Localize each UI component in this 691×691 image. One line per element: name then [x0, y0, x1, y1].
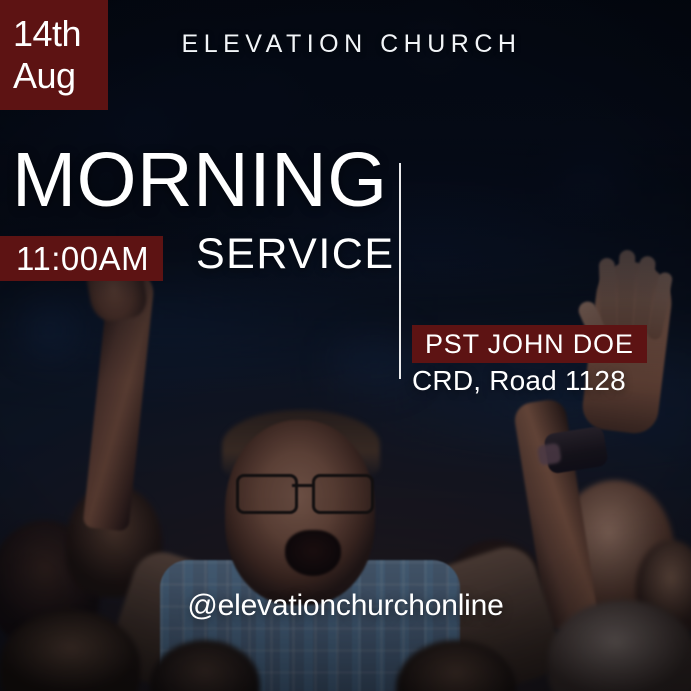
speaker-name-badge: PST JOHN DOE [412, 325, 647, 363]
service-time-badge: 11:00AM [0, 236, 163, 281]
speaker-address: CRD, Road 1128 [412, 364, 626, 398]
church-name: ELEVATION CHURCH [0, 30, 691, 59]
vertical-divider [399, 163, 401, 379]
social-handle: @elevationchurchonline [0, 588, 691, 624]
church-service-flyer: 14th Aug ELEVATION CHURCH MORNING 11:00A… [0, 0, 691, 691]
headline-morning: MORNING [12, 140, 388, 220]
headline-service: SERVICE [196, 230, 395, 278]
date-month: Aug [13, 55, 108, 97]
flyer-content: 14th Aug ELEVATION CHURCH MORNING 11:00A… [0, 0, 691, 691]
